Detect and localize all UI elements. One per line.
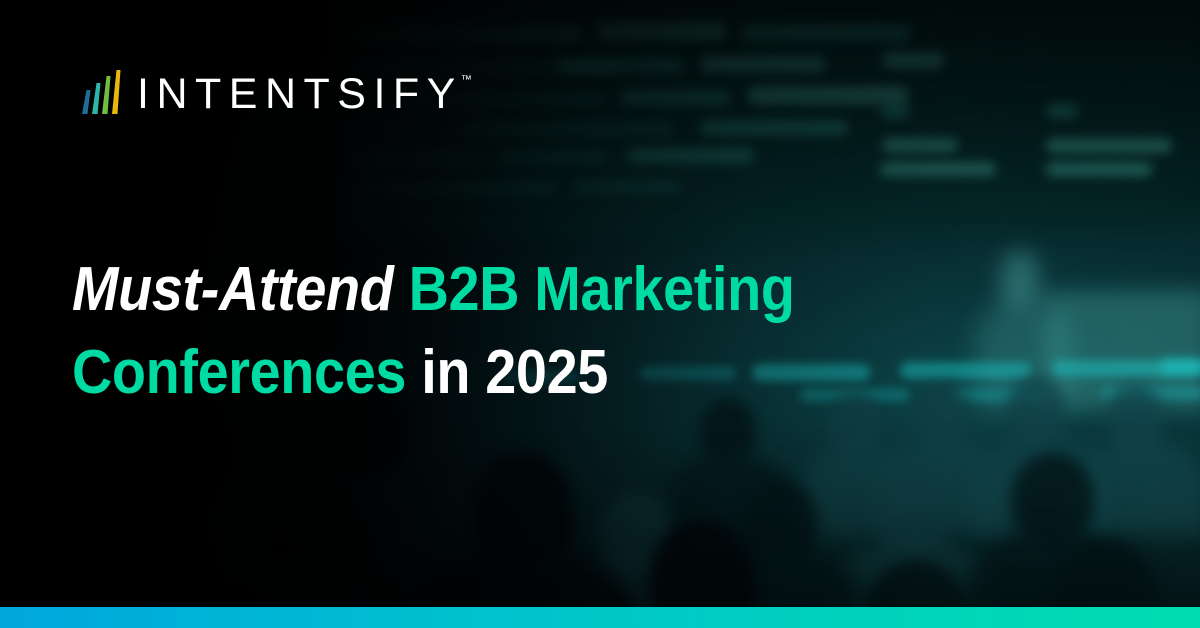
headline-line-2: Conferences in 2025 xyxy=(72,331,828,414)
headline-accent-text: B2B Marketing xyxy=(409,255,795,324)
headline-accent-text: Conferences xyxy=(72,338,406,407)
headline-white-text: in 2025 xyxy=(421,338,608,407)
headline: Must-Attend B2B Marketing Conferences in… xyxy=(72,248,828,414)
bottom-dark-gradient-overlay xyxy=(0,418,1200,628)
intensify-logo[interactable]: INTENTSIFY ™ xyxy=(78,62,474,114)
intensify-wordmark: INTENTSIFY ™ xyxy=(137,73,474,116)
headline-italic-text: Must-Attend xyxy=(72,255,393,324)
intensify-bars-mark-icon xyxy=(78,70,124,114)
accent-gradient-bar xyxy=(0,607,1200,628)
headline-line-1: Must-Attend B2B Marketing xyxy=(72,248,828,331)
wordmark-text: INTENTSIFY xyxy=(137,73,463,116)
marketing-banner: INTENTSIFY ™ Must-Attend B2B Marketing C… xyxy=(0,0,1200,628)
trademark-symbol: ™ xyxy=(461,75,472,86)
